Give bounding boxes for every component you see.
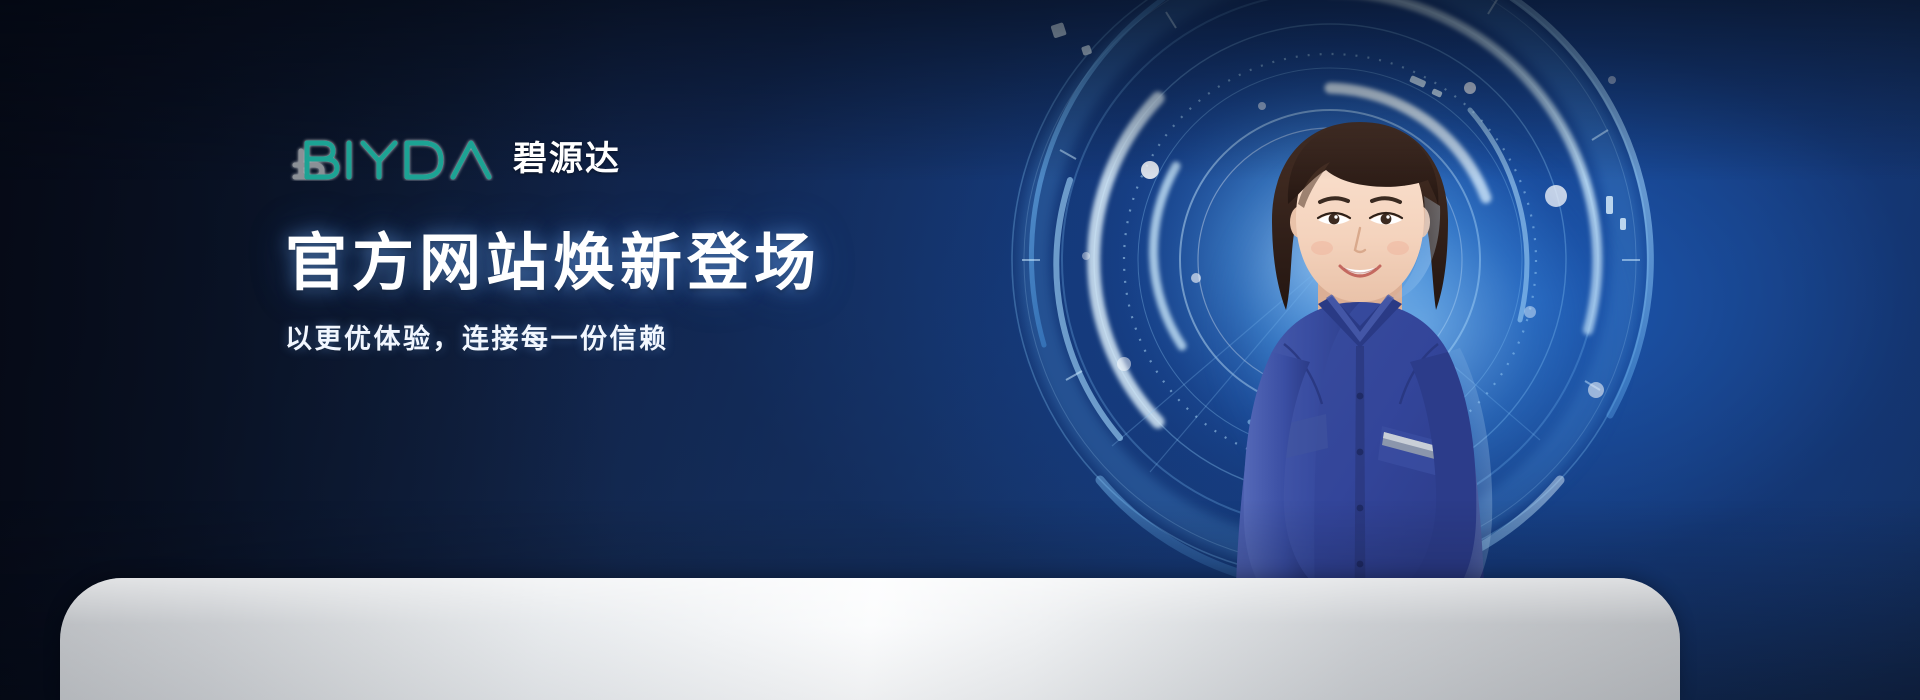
hero-subheadline: 以更优体验，连接每一份信赖 [285, 317, 1045, 356]
hero-banner: 碧源达 官方网站焕新登场 以更优体验，连接每一份信赖 [0, 0, 1920, 700]
hero-content: 碧源达 官方网站焕新登场 以更优体验，连接每一份信赖 [285, 136, 1045, 356]
biyda-wordmark-icon [285, 137, 499, 181]
product-platform [60, 578, 1680, 700]
brand-logo[interactable]: 碧源达 [285, 136, 1045, 182]
hero-headline: 官方网站焕新登场 [285, 230, 1045, 295]
brand-name-cn: 碧源达 [513, 137, 621, 181]
platform-sheen [60, 578, 1680, 700]
